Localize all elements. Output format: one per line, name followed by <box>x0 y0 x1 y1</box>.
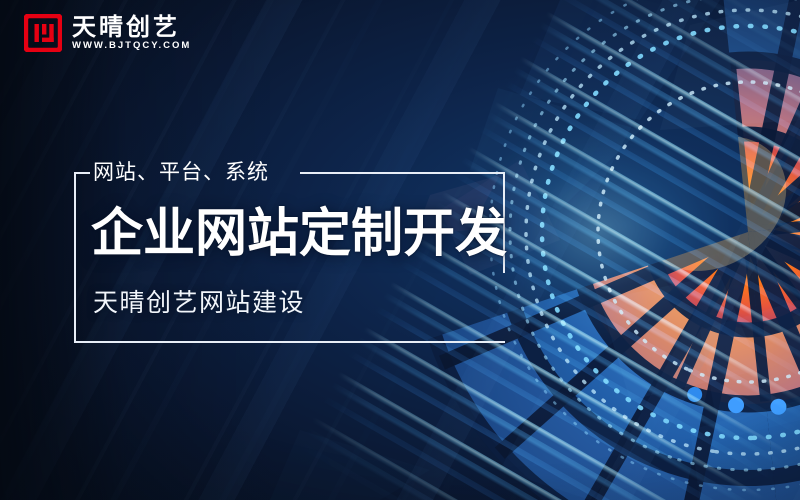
headline-text: 企业网站定制开发 <box>91 203 507 265</box>
frame-left-border <box>74 172 76 343</box>
brand-logo[interactable]: 天晴创艺 WWW.BJTQCY.COM <box>24 14 191 52</box>
logo-website-url: WWW.BJTQCY.COM <box>72 41 191 51</box>
frame-top-rule <box>300 172 505 174</box>
tianqing-chuangyi-logo-mark-icon <box>24 14 62 52</box>
eyebrow-text: 网站、平台、系统 <box>93 160 269 184</box>
subtitle-text: 天晴创艺网站建设 <box>93 288 305 318</box>
logo-company-name: 天晴创艺 <box>72 15 191 39</box>
frame-top-stub <box>74 172 90 174</box>
frame-bottom-rule <box>74 341 505 343</box>
promo-banner: 天晴创艺 WWW.BJTQCY.COM 网站、平台、系统 企业网站定制开发 天晴… <box>0 0 800 500</box>
